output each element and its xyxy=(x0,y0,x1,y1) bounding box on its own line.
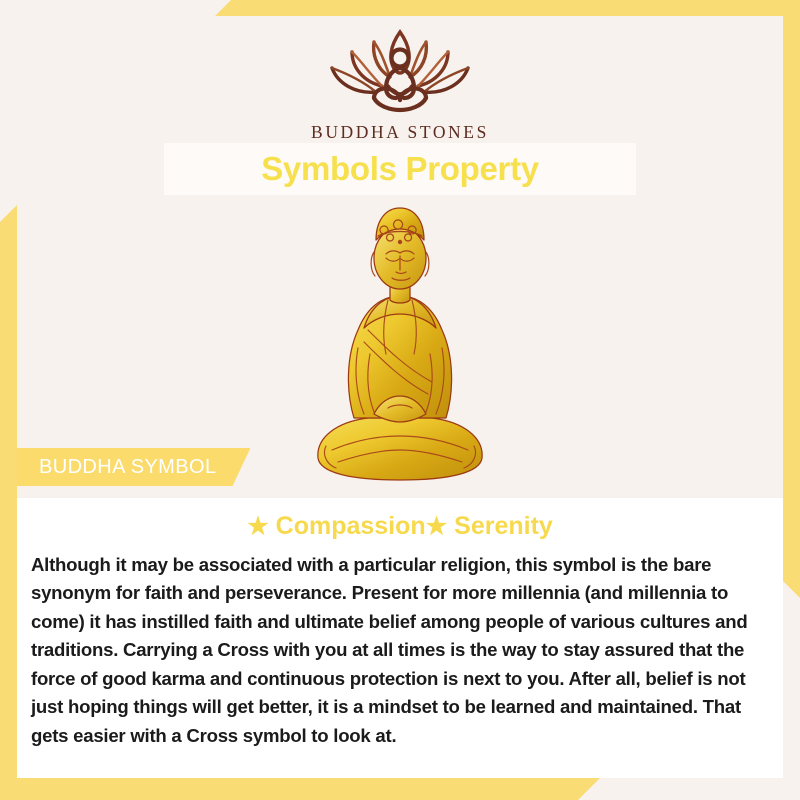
star-icon-left: ★ xyxy=(247,513,269,540)
star-icon-mid: ★ xyxy=(426,513,448,540)
article-headline: ★ Compassion★ Serenity xyxy=(17,512,783,541)
headline-part-one: Compassion xyxy=(269,512,426,540)
poster-content: BUDDHA STONES Symbols Property xyxy=(0,0,800,800)
lotus-meditation-figure-icon xyxy=(312,22,488,118)
status-badge: BUDDHA SYMBOL xyxy=(17,448,250,486)
seated-buddha-statue-icon xyxy=(302,196,498,496)
poster-canvas: BUDDHA STONES Symbols Property xyxy=(0,0,800,800)
headline-part-two: Serenity xyxy=(447,512,553,540)
title-band: Symbols Property xyxy=(164,143,636,195)
page-title: Symbols Property xyxy=(261,150,539,188)
brand-logo: BUDDHA STONES xyxy=(0,22,800,143)
article-body: Although it may be associated with a par… xyxy=(31,551,769,750)
brand-name: BUDDHA STONES xyxy=(0,122,800,143)
article-panel: ★ Compassion★ Serenity Although it may b… xyxy=(17,498,783,778)
badge-label: BUDDHA SYMBOL xyxy=(39,456,216,479)
